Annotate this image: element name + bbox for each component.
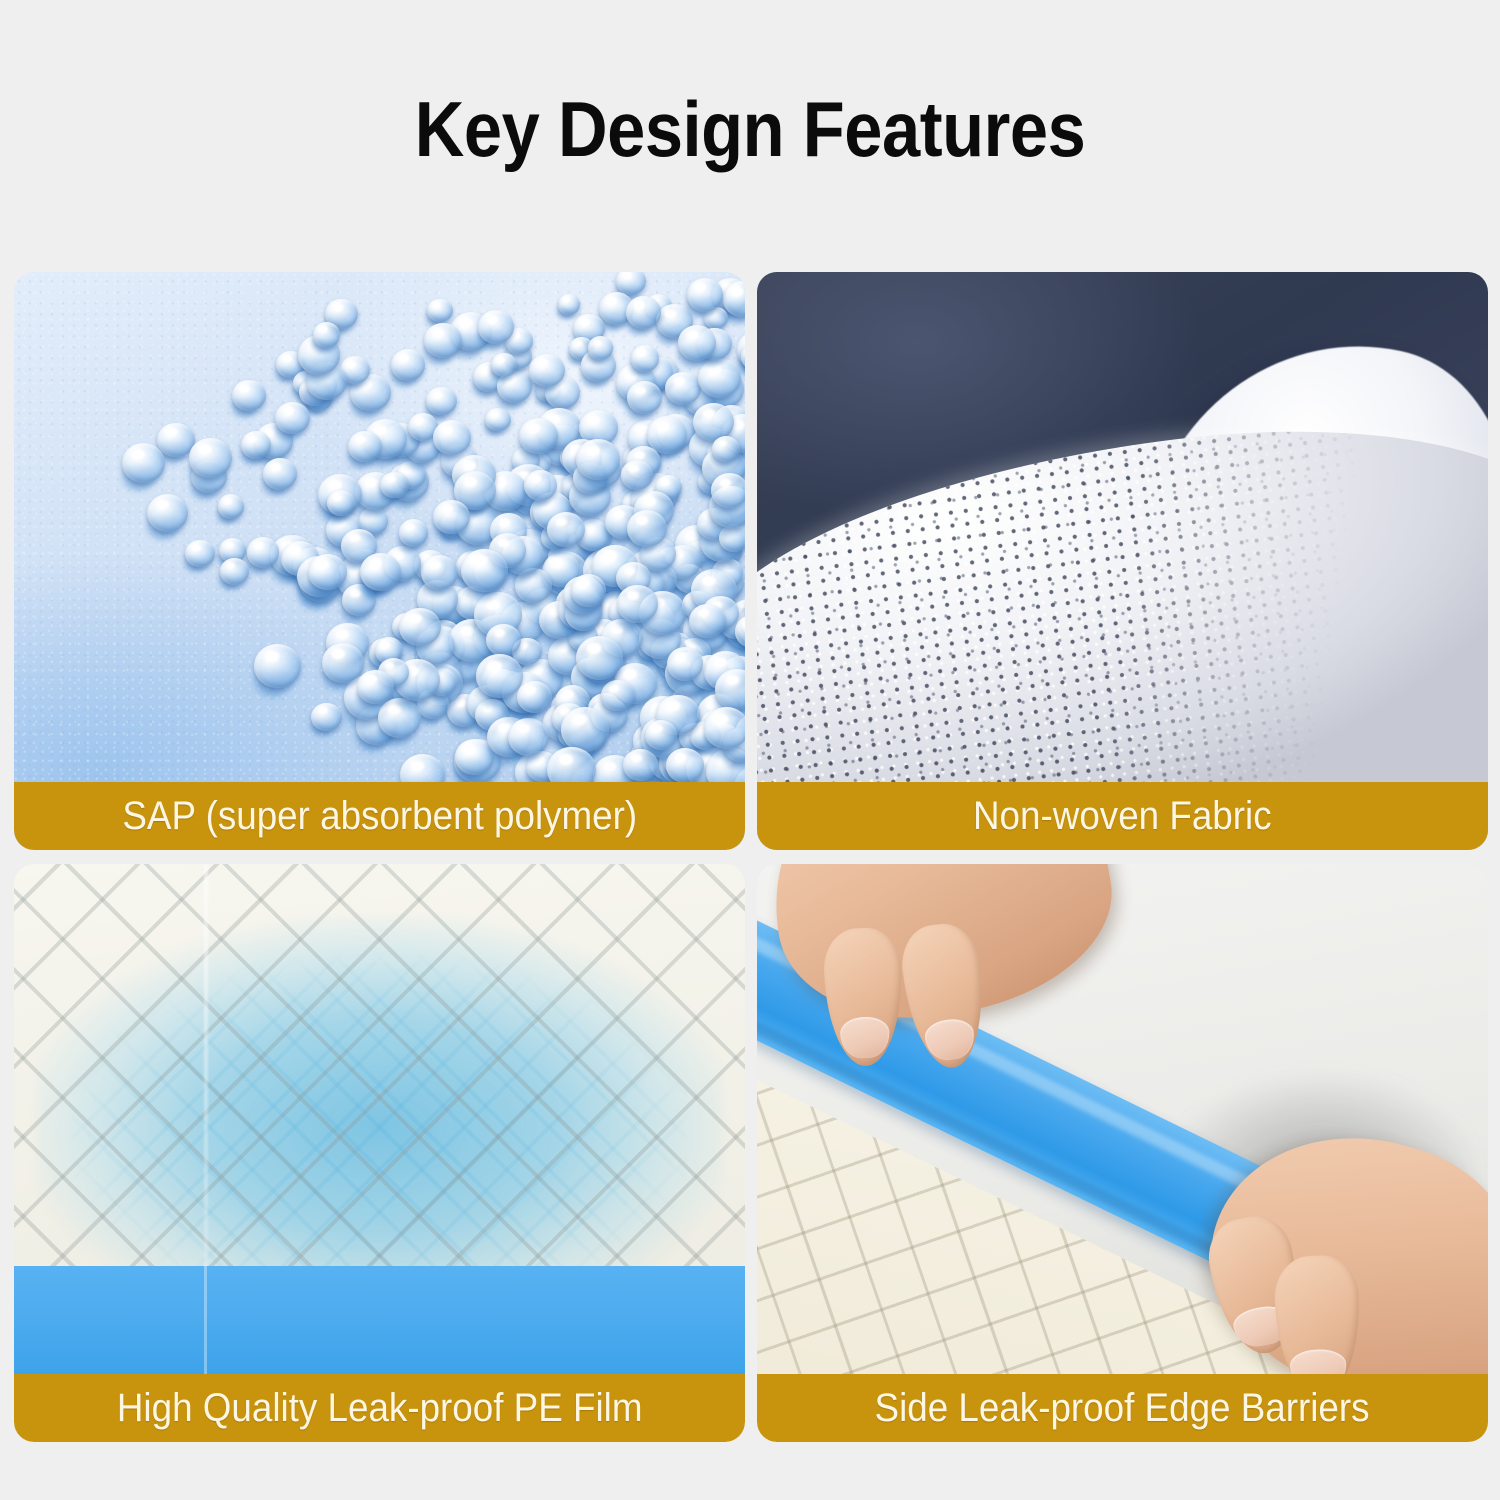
sap-bead xyxy=(232,380,266,412)
sap-bead xyxy=(399,519,428,546)
sap-bead xyxy=(627,510,667,547)
sap-bead xyxy=(399,608,440,647)
sap-bead xyxy=(687,278,724,312)
sap-bead xyxy=(588,336,613,359)
caption-label-non-woven-fabric: Non-woven Fabric xyxy=(973,796,1272,836)
feature-grid: SAP (super absorbent polymer) Non-woven … xyxy=(14,272,1488,1442)
sap-bead xyxy=(426,387,456,415)
sap-bead xyxy=(547,512,585,547)
sap-bead xyxy=(348,431,382,463)
sap-bead xyxy=(421,555,458,589)
caption-bar-non-woven-fabric: Non-woven Fabric xyxy=(757,782,1488,850)
sap-bead xyxy=(576,439,620,480)
pe-film-crease xyxy=(204,1266,207,1374)
fingernail-left-a xyxy=(839,1016,890,1059)
sap-bead xyxy=(311,703,341,731)
sap-bead xyxy=(122,443,165,483)
sap-bead xyxy=(380,472,409,499)
sap-bead xyxy=(147,494,188,532)
sap-bead xyxy=(433,420,471,455)
sap-bead xyxy=(626,296,662,329)
key-design-features-infographic: Key Design Features SAP (super absorbent… xyxy=(0,0,1500,1500)
sap-bead xyxy=(322,643,364,682)
sap-bead xyxy=(391,349,425,381)
sap-bead xyxy=(433,500,470,534)
sap-photo xyxy=(14,272,745,850)
feature-panel-sap[interactable]: SAP (super absorbent polymer) xyxy=(14,272,745,850)
page-title-container: Key Design Features xyxy=(0,0,1500,258)
pe-film-photo xyxy=(14,864,745,1442)
caption-bar-pe-film: High Quality Leak-proof PE Film xyxy=(14,1374,745,1442)
sap-bead xyxy=(220,558,249,585)
sap-bead xyxy=(517,681,552,713)
sap-bead xyxy=(666,748,704,783)
caption-label-edge-barriers: Side Leak-proof Edge Barriers xyxy=(875,1388,1370,1428)
sap-bead xyxy=(189,438,232,478)
edge-barriers-photo xyxy=(757,864,1488,1442)
sap-bead xyxy=(711,473,745,507)
sap-bead xyxy=(486,624,521,656)
sap-bead xyxy=(461,549,508,592)
caption-label-sap: SAP (super absorbent polymer) xyxy=(122,796,637,836)
sap-bead xyxy=(263,458,297,489)
caption-bar-sap: SAP (super absorbent polymer) xyxy=(14,782,745,850)
sap-bead xyxy=(558,294,581,315)
feature-panel-edge-barriers[interactable]: Side Leak-proof Edge Barriers xyxy=(757,864,1488,1442)
sap-bead xyxy=(576,636,623,680)
sap-bead xyxy=(617,585,658,623)
non-woven-photo xyxy=(757,272,1488,850)
sap-bead xyxy=(308,554,347,590)
sap-bead xyxy=(631,345,659,371)
sap-bead xyxy=(185,540,215,568)
pe-film-border-strip xyxy=(14,1266,745,1374)
sap-bead xyxy=(357,670,394,704)
caption-label-pe-film: High Quality Leak-proof PE Film xyxy=(117,1388,643,1428)
sap-bead xyxy=(508,718,549,756)
sap-bead xyxy=(485,408,510,432)
sap-bead xyxy=(627,381,662,414)
feature-panel-non-woven-fabric[interactable]: Non-woven Fabric xyxy=(757,272,1488,850)
sap-bead xyxy=(427,299,453,323)
sap-bead xyxy=(491,353,517,377)
sap-bead xyxy=(327,490,355,516)
sap-bead xyxy=(712,436,740,462)
feature-panel-pe-film[interactable]: High Quality Leak-proof PE Film xyxy=(14,864,745,1442)
sap-bead xyxy=(704,707,745,749)
sap-bead xyxy=(667,647,703,681)
sap-bead xyxy=(275,402,309,434)
sap-bead xyxy=(689,604,726,638)
sap-bead xyxy=(678,325,716,361)
sap-bead xyxy=(524,470,557,501)
page-title: Key Design Features xyxy=(415,90,1086,168)
sap-bead xyxy=(561,707,609,751)
sap-bead xyxy=(247,537,280,568)
sap-bead xyxy=(424,323,462,358)
sap-bead xyxy=(313,322,341,348)
sap-bead xyxy=(571,574,607,607)
caption-bar-edge-barriers: Side Leak-proof Edge Barriers xyxy=(757,1374,1488,1442)
